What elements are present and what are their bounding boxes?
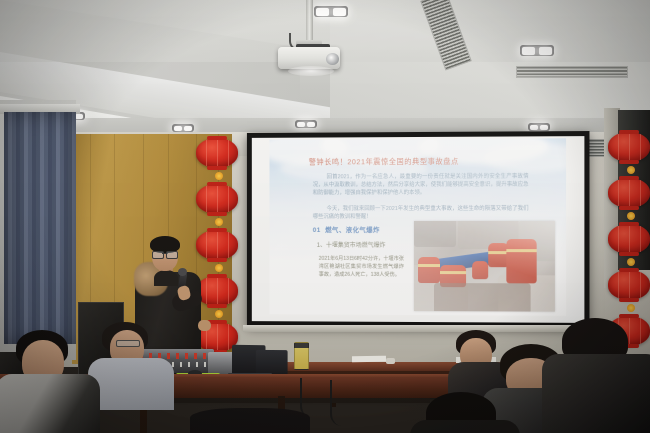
- projector-lens: [326, 53, 339, 65]
- lantern-link: [215, 172, 223, 180]
- lantern: [608, 178, 650, 208]
- lantern: [608, 132, 650, 162]
- slide-section-number: 01: [313, 227, 321, 234]
- audience-member-right-1: [418, 392, 510, 433]
- slide-section-heading: 01 燃气、液化气爆炸: [313, 225, 380, 234]
- projector-mount-pole: [306, 0, 313, 44]
- torso: [542, 354, 650, 433]
- lecture-hall-screenshot: 警钟长鸣！2021年震惊全国的典型事故盘点 回首2021，作为一名应急人，最重要…: [0, 0, 650, 433]
- lantern: [608, 224, 650, 254]
- lantern: [196, 184, 238, 214]
- audience-member-left-1: [2, 330, 98, 433]
- audience-member-foreground: [190, 408, 310, 433]
- lantern-link: [215, 310, 223, 318]
- lantern-link: [627, 258, 635, 266]
- glasses-icon: [152, 251, 178, 257]
- lantern-link: [627, 212, 635, 220]
- ceiling-light-2: [520, 45, 554, 56]
- glasses-icon: [116, 340, 140, 347]
- lantern-link: [627, 304, 635, 312]
- screen-bottom-ledge: [243, 325, 590, 332]
- slide-item-body: 2021年6月13日6时42分许，十堰市张湾区艳湖社区集贸市场发生燃气爆炸事故，…: [319, 255, 404, 280]
- lantern-link: [215, 264, 223, 272]
- slide-section-title: 燃气、液化气爆炸: [325, 227, 380, 234]
- presentation-slide: 警钟长鸣！2021年震惊全国的典型事故盘点 回首2021，作为一名应急人，最重要…: [269, 138, 566, 316]
- papers-on-table: [352, 356, 386, 363]
- ac-vent-ceiling-right: [516, 66, 628, 78]
- ceiling-light-6: [528, 123, 550, 131]
- slide-item-label: 1、十堰集贸市场燃气爆炸: [317, 240, 386, 249]
- torso: [0, 374, 100, 433]
- microphone-head: [178, 268, 187, 276]
- lantern-link: [627, 166, 635, 174]
- presenter-gesturing-hand: [198, 320, 211, 331]
- lantern-link: [215, 218, 223, 226]
- slide-paragraph-1: 回首2021，作为一名应急人，最重要的一份责任就是关注国内外的安全生产事故情况，…: [313, 173, 529, 198]
- ceiling-light-4: [172, 124, 194, 132]
- audience-member-left-2: [88, 322, 174, 402]
- cup-on-table: [386, 358, 395, 364]
- presenter-collar: [154, 270, 178, 286]
- slide-paragraph-2: 今天，我们就来回顾一下2021年发生的典型重大事故，这些生命的陨落又带给了我们哪…: [313, 205, 529, 221]
- lantern: [608, 270, 650, 300]
- torso: [410, 420, 520, 433]
- window-curtain: [4, 112, 76, 344]
- slide-title: 警钟长鸣！2021年震惊全国的典型事故盘点: [309, 156, 539, 167]
- slide-rescue-photo: [414, 221, 555, 312]
- projection-screen-frame: 警钟长鸣！2021年震惊全国的典型事故盘点 回首2021，作为一名应急人，最重要…: [247, 131, 590, 328]
- thermos-bottle: [294, 342, 309, 370]
- projector-glow: [288, 66, 334, 76]
- cable-2: [330, 380, 356, 426]
- ceiling-light-5: [295, 120, 317, 128]
- lantern: [196, 138, 238, 168]
- ceiling-light-1: [314, 6, 348, 17]
- torso: [88, 358, 174, 410]
- audience-member-right-3: [556, 318, 650, 433]
- projection-screen: 警钟长鸣！2021年震惊全国的典型事故盘点 回首2021，作为一名应急人，最重要…: [252, 136, 585, 323]
